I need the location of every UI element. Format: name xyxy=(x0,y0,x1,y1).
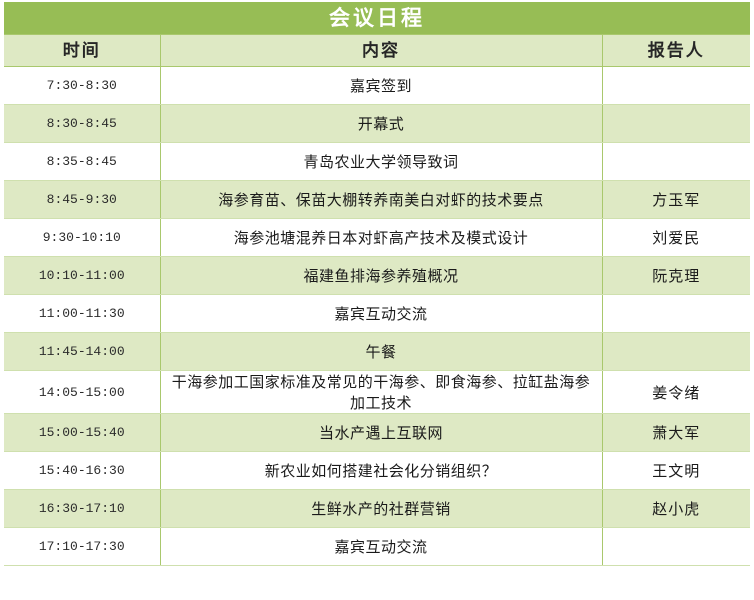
cell-time: 8:35-8:45 xyxy=(4,143,160,181)
cell-content: 福建鱼排海参养殖概况 xyxy=(160,257,602,295)
table-row: 16:30-17:10生鲜水产的社群营销赵小虎 xyxy=(4,490,750,528)
cell-content: 干海参加工国家标准及常见的干海参、即食海参、拉缸盐海参加工技术 xyxy=(160,371,602,414)
cell-content: 新农业如何搭建社会化分销组织？ xyxy=(160,452,602,490)
cell-content: 生鲜水产的社群营销 xyxy=(160,490,602,528)
cell-time: 15:40-16:30 xyxy=(4,452,160,490)
cell-content: 嘉宾互动交流 xyxy=(160,528,602,566)
cell-time: 16:30-17:10 xyxy=(4,490,160,528)
cell-time: 11:00-11:30 xyxy=(4,295,160,333)
table-row: 11:00-11:30嘉宾互动交流 xyxy=(4,295,750,333)
cell-time: 9:30-10:10 xyxy=(4,219,160,257)
cell-time: 10:10-11:00 xyxy=(4,257,160,295)
cell-time: 15:00-15:40 xyxy=(4,414,160,452)
title-row: 会议日程 xyxy=(4,2,750,35)
cell-time: 7:30-8:30 xyxy=(4,67,160,105)
schedule-table: 会议日程 时间 内容 报告人 7:30-8:30嘉宾签到8:30-8:45开幕式… xyxy=(4,2,750,566)
table-row: 15:40-16:30新农业如何搭建社会化分销组织？王文明 xyxy=(4,452,750,490)
cell-speaker xyxy=(602,528,750,566)
conference-schedule-page: 会议日程 时间 内容 报告人 7:30-8:30嘉宾签到8:30-8:45开幕式… xyxy=(0,0,754,600)
cell-speaker: 姜令绪 xyxy=(602,371,750,414)
table-row: 8:45-9:30海参育苗、保苗大棚转养南美白对虾的技术要点方玉军 xyxy=(4,181,750,219)
cell-speaker: 方玉军 xyxy=(602,181,750,219)
cell-content: 青岛农业大学领导致词 xyxy=(160,143,602,181)
cell-content: 当水产遇上互联网 xyxy=(160,414,602,452)
cell-speaker xyxy=(602,105,750,143)
cell-time: 11:45-14:00 xyxy=(4,333,160,371)
cell-speaker xyxy=(602,295,750,333)
column-header-content: 内容 xyxy=(160,35,602,67)
cell-content: 海参池塘混养日本对虾高产技术及模式设计 xyxy=(160,219,602,257)
cell-time: 17:10-17:30 xyxy=(4,528,160,566)
cell-content: 嘉宾互动交流 xyxy=(160,295,602,333)
table-row: 17:10-17:30嘉宾互动交流 xyxy=(4,528,750,566)
cell-content: 开幕式 xyxy=(160,105,602,143)
cell-speaker: 赵小虎 xyxy=(602,490,750,528)
cell-speaker: 萧大军 xyxy=(602,414,750,452)
table-row: 8:35-8:45青岛农业大学领导致词 xyxy=(4,143,750,181)
table-row: 14:05-15:00干海参加工国家标准及常见的干海参、即食海参、拉缸盐海参加工… xyxy=(4,371,750,414)
cell-content: 嘉宾签到 xyxy=(160,67,602,105)
cell-time: 8:45-9:30 xyxy=(4,181,160,219)
table-row: 15:00-15:40当水产遇上互联网萧大军 xyxy=(4,414,750,452)
cell-time: 14:05-15:00 xyxy=(4,371,160,414)
table-row: 7:30-8:30嘉宾签到 xyxy=(4,67,750,105)
cell-speaker: 刘爱民 xyxy=(602,219,750,257)
table-row: 11:45-14:00午餐 xyxy=(4,333,750,371)
cell-time: 8:30-8:45 xyxy=(4,105,160,143)
column-header-time: 时间 xyxy=(4,35,160,67)
table-row: 10:10-11:00福建鱼排海参养殖概况阮克理 xyxy=(4,257,750,295)
schedule-title: 会议日程 xyxy=(4,2,750,35)
column-header-speaker: 报告人 xyxy=(602,35,750,67)
cell-speaker xyxy=(602,67,750,105)
cell-speaker xyxy=(602,333,750,371)
cell-content: 午餐 xyxy=(160,333,602,371)
schedule-table-body: 会议日程 时间 内容 报告人 7:30-8:30嘉宾签到8:30-8:45开幕式… xyxy=(4,2,750,566)
table-row: 9:30-10:10海参池塘混养日本对虾高产技术及模式设计刘爱民 xyxy=(4,219,750,257)
cell-speaker xyxy=(602,143,750,181)
header-row: 时间 内容 报告人 xyxy=(4,35,750,67)
cell-content: 海参育苗、保苗大棚转养南美白对虾的技术要点 xyxy=(160,181,602,219)
table-row: 8:30-8:45开幕式 xyxy=(4,105,750,143)
cell-speaker: 王文明 xyxy=(602,452,750,490)
cell-speaker: 阮克理 xyxy=(602,257,750,295)
